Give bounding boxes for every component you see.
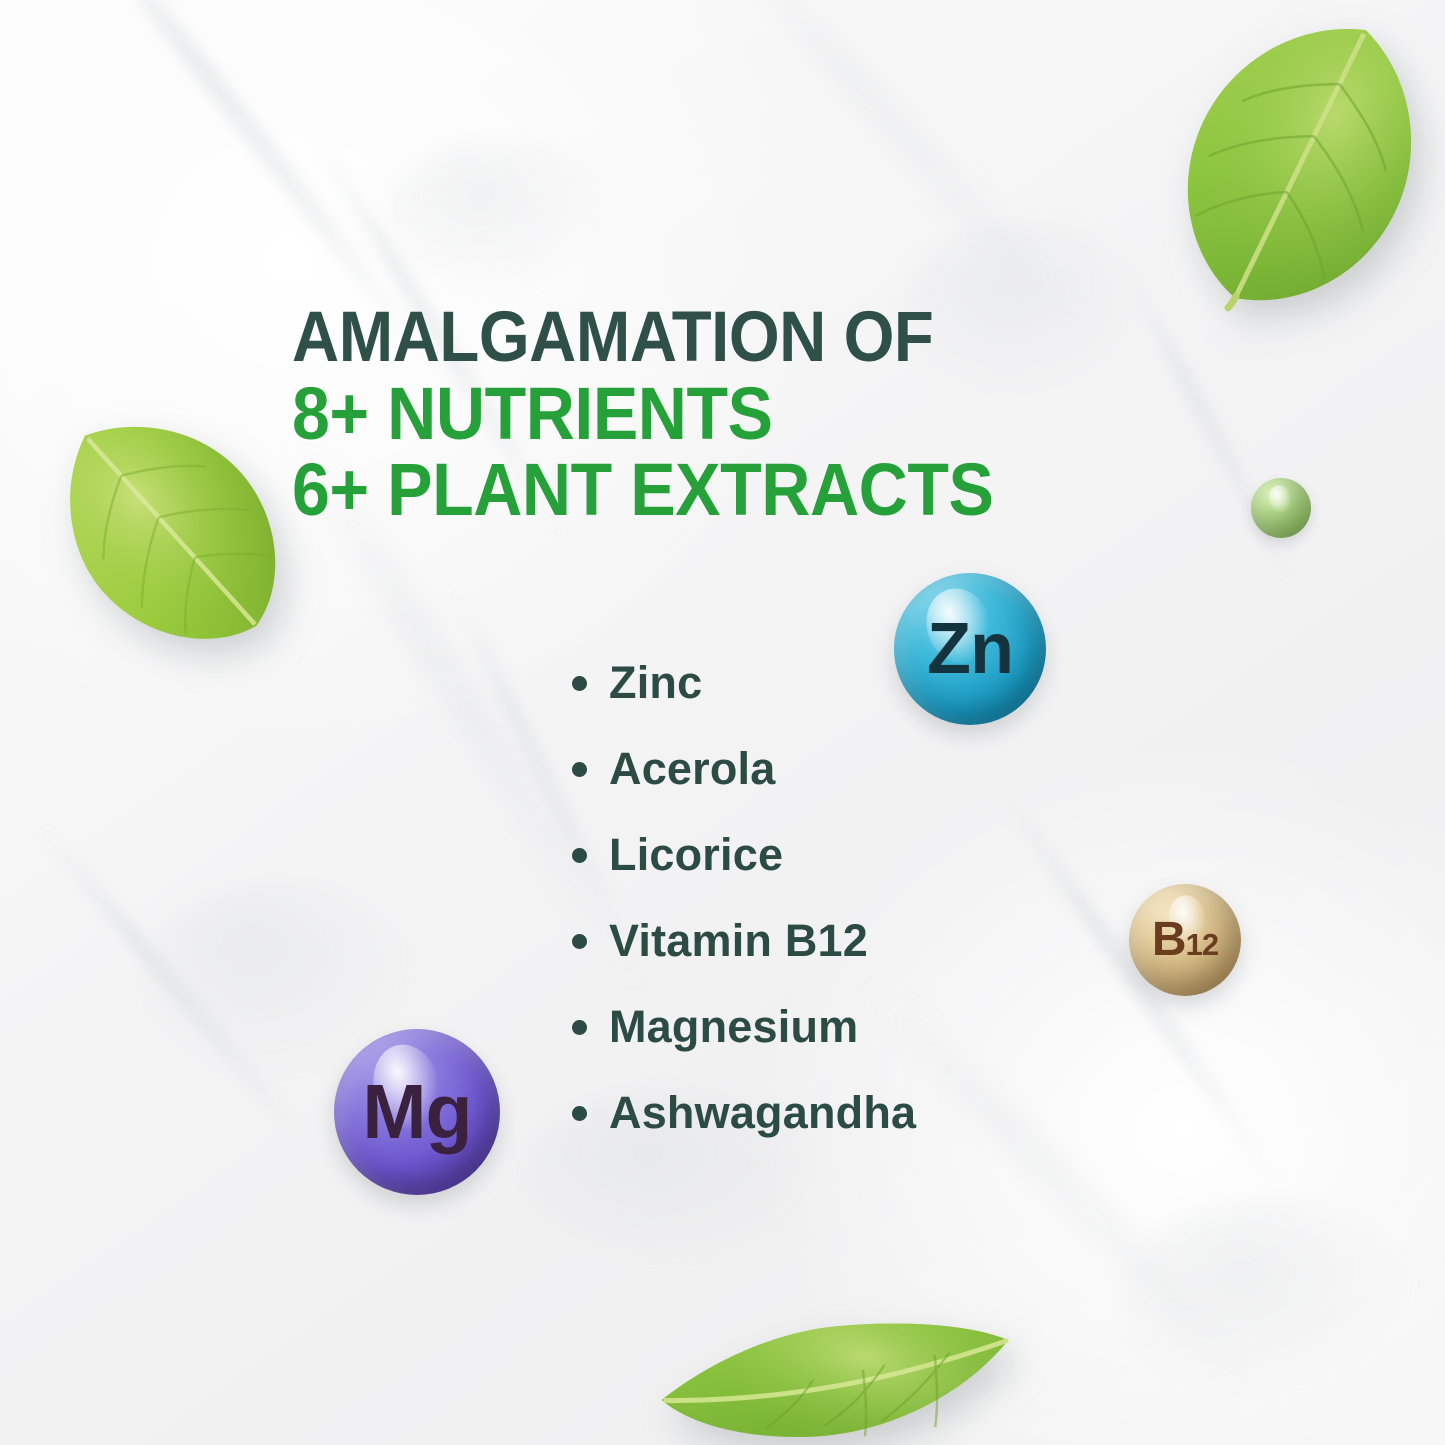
magnesium-molecule-sphere-icon: Mg (334, 1029, 500, 1195)
b12-letter: B (1152, 916, 1186, 964)
sphere-rim-shading (1251, 478, 1311, 538)
ingredient-label: Zinc (609, 657, 702, 709)
ingredient-label: Acerola (609, 743, 775, 795)
list-item: Vitamin B12 (572, 898, 916, 984)
headline-line-1: AMALGAMATION OF (292, 303, 1046, 373)
ingredient-label: Ashwagandha (609, 1087, 916, 1139)
b12-symbol-label: B12 (1152, 916, 1218, 964)
bullet-icon (572, 676, 587, 691)
ingredient-label: Magnesium (609, 1001, 858, 1053)
sphere-highlight (1265, 482, 1296, 516)
headline-line-3: 6+ PLANT EXTRACTS (292, 454, 1046, 527)
vitamin-b12-molecule-sphere-icon: B12 (1129, 884, 1241, 996)
basil-leaf-bottom (660, 1288, 1060, 1445)
ingredient-label: Licorice (609, 829, 783, 881)
bullet-icon (572, 934, 587, 949)
list-item: Ashwagandha (572, 1070, 916, 1156)
ingredient-list: Zinc Acerola Licorice Vitamin B12 Magnes… (572, 640, 916, 1156)
zinc-molecule-sphere-icon: Zn (894, 573, 1046, 725)
bullet-icon (572, 762, 587, 777)
b12-subscript: 12 (1186, 929, 1218, 960)
list-item: Acerola (572, 726, 916, 812)
headline-block: AMALGAMATION OF 8+ NUTRIENTS 6+ PLANT EX… (292, 303, 1112, 531)
list-item: Licorice (572, 812, 916, 898)
green-bead-sphere-icon (1251, 478, 1311, 538)
basil-leaf-top-right (1150, 5, 1445, 325)
bullet-icon (572, 848, 587, 863)
bullet-icon (572, 1020, 587, 1035)
headline-line-2: 8+ NUTRIENTS (292, 378, 1046, 451)
bullet-icon (572, 1106, 587, 1121)
magnesium-symbol-label: Mg (362, 1074, 471, 1151)
promo-graphic-canvas: AMALGAMATION OF 8+ NUTRIENTS 6+ PLANT EX… (0, 0, 1445, 1445)
list-item: Zinc (572, 640, 916, 726)
zinc-symbol-label: Zn (927, 613, 1013, 685)
basil-leaf-left (45, 395, 295, 665)
ingredient-label: Vitamin B12 (609, 915, 868, 967)
list-item: Magnesium (572, 984, 916, 1070)
